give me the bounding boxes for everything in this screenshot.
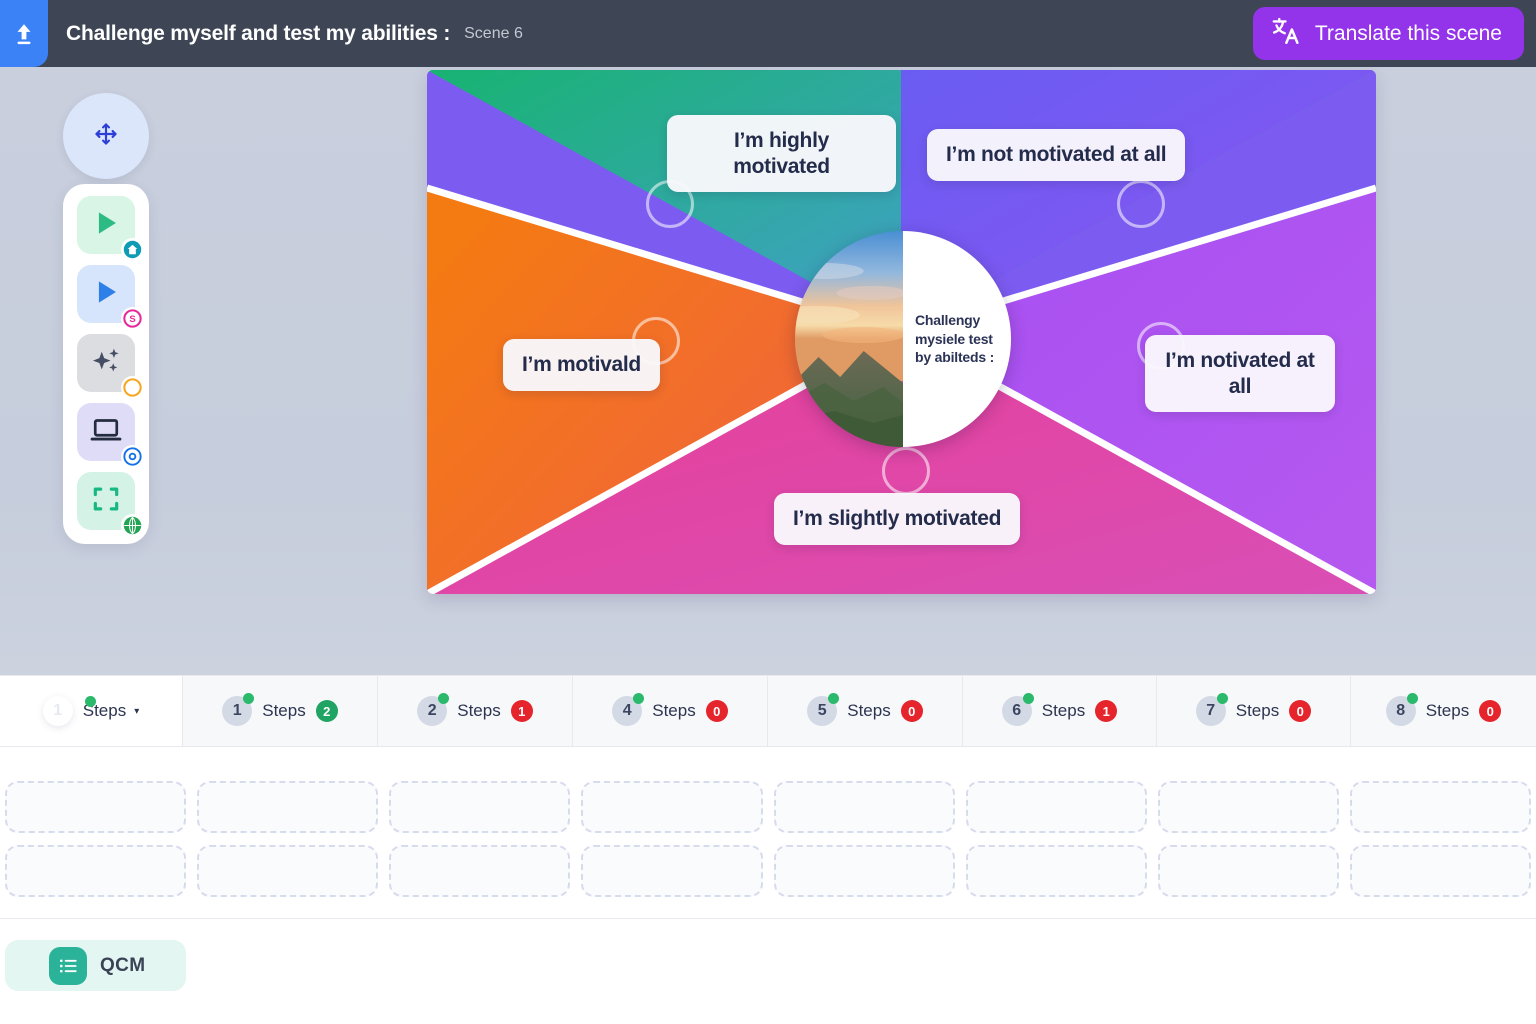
step-tab-1[interactable]: 1 Steps 2: [183, 676, 378, 746]
slot-placeholder[interactable]: [1350, 781, 1531, 833]
center-title: Challengy mysiele test by abilteds :: [915, 311, 1011, 368]
slot-placeholder[interactable]: [5, 781, 186, 833]
eye-icon: [121, 445, 144, 468]
step-label: Steps: [457, 701, 500, 721]
center-image: [795, 231, 903, 447]
status-dot: [1217, 693, 1228, 704]
step-label: Steps: [1426, 701, 1469, 721]
tag-top-right[interactable]: I’m not motivated at all: [927, 129, 1185, 181]
step-number: 5: [807, 696, 837, 726]
money-icon: S: [121, 307, 144, 330]
slot-row: [0, 781, 1536, 833]
slot-row: [0, 845, 1536, 897]
quadrant-diagram[interactable]: I’m highly motivated I’m not motivated a…: [427, 70, 1376, 594]
status-dot: [828, 693, 839, 704]
step-number: 7: [1196, 696, 1226, 726]
slot-placeholder[interactable]: [1350, 845, 1531, 897]
step-tab-6[interactable]: 6 Steps 1: [963, 676, 1157, 746]
tag-right[interactable]: I’m notivated at all: [1145, 335, 1335, 412]
tool-fullscreen[interactable]: [77, 472, 135, 530]
slot-placeholder[interactable]: [774, 781, 955, 833]
circle-icon: [121, 376, 144, 399]
tool-rail: S: [63, 184, 149, 544]
status-dot: [1407, 693, 1418, 704]
step-badge: 2: [316, 700, 338, 722]
step-badge: 0: [706, 700, 728, 722]
step-number: 4: [612, 696, 642, 726]
globe-icon: [121, 514, 144, 537]
upload-icon: [11, 21, 37, 47]
step-tab-7[interactable]: 7 Steps 0: [1157, 676, 1351, 746]
scene-label: Scene 6: [464, 25, 523, 43]
laptop-icon: [89, 413, 123, 452]
translate-button-label: Translate this scene: [1315, 22, 1502, 46]
slot-placeholder[interactable]: [389, 781, 570, 833]
step-badge: 0: [901, 700, 923, 722]
upload-button[interactable]: [0, 0, 48, 67]
bottom-bar: QCM: [0, 919, 1536, 1024]
home-icon: [121, 238, 144, 261]
top-bar: Challenge myself and test my abilities :…: [0, 0, 1536, 67]
step-tab-current[interactable]: 1 Steps ▾: [0, 676, 183, 746]
translate-scene-button[interactable]: Translate this scene: [1253, 7, 1524, 60]
tool-play-run[interactable]: S: [77, 265, 135, 323]
qcm-label: QCM: [100, 955, 146, 977]
slot-placeholder[interactable]: [5, 845, 186, 897]
slot-placeholder[interactable]: [197, 781, 378, 833]
slot-placeholder[interactable]: [774, 845, 955, 897]
status-dot: [85, 696, 96, 707]
step-label: Steps: [847, 701, 890, 721]
step-tab-5[interactable]: 5 Steps 0: [768, 676, 963, 746]
slot-placeholder[interactable]: [389, 845, 570, 897]
step-number: 6: [1002, 696, 1032, 726]
play-blue-icon: [89, 275, 123, 314]
chevron-down-icon[interactable]: ▾: [134, 706, 139, 717]
step-number: 8: [1386, 696, 1416, 726]
step-badge: 0: [1289, 700, 1311, 722]
steps-bar: 1 Steps ▾ 1 Steps 2 2 Steps 1 4 Steps 0 …: [0, 675, 1536, 747]
slot-placeholder[interactable]: [1158, 781, 1339, 833]
slot-placeholder[interactable]: [197, 845, 378, 897]
center-node[interactable]: Challengy mysiele test by abilteds :: [795, 231, 1011, 447]
canvas-stage: S: [0, 67, 1536, 675]
step-badge: 1: [511, 700, 533, 722]
step-number: 1: [222, 696, 252, 726]
hotspot-top-right[interactable]: [1117, 180, 1165, 228]
step-label: Steps: [1042, 701, 1085, 721]
status-dot: [633, 693, 644, 704]
status-dot: [1023, 693, 1034, 704]
step-label: Steps: [1236, 701, 1279, 721]
tag-top-left[interactable]: I’m highly motivated: [667, 115, 896, 192]
translate-icon: [1271, 16, 1301, 51]
slot-placeholder[interactable]: [1158, 845, 1339, 897]
qcm-button[interactable]: QCM: [5, 940, 186, 991]
step-tab-8[interactable]: 8 Steps 0: [1351, 676, 1536, 746]
step-tab-4[interactable]: 4 Steps 0: [573, 676, 768, 746]
move-icon: [93, 121, 119, 152]
tag-bottom[interactable]: I’m slightly motivated: [774, 493, 1020, 545]
status-dot: [243, 693, 254, 704]
step-number: 2: [417, 696, 447, 726]
step-number: 1: [43, 696, 73, 726]
app-root: Challenge myself and test my abilities :…: [0, 0, 1536, 1024]
step-tab-2[interactable]: 2 Steps 1: [378, 676, 573, 746]
step-label: Steps: [262, 701, 305, 721]
step-badge: 0: [1479, 700, 1501, 722]
sparkles-icon: [89, 344, 123, 383]
page-title: Challenge myself and test my abilities :: [66, 22, 450, 46]
slot-placeholder[interactable]: [966, 845, 1147, 897]
hotspot-bottom[interactable]: [882, 447, 930, 495]
tool-play-preview[interactable]: [77, 196, 135, 254]
slot-grid: [0, 747, 1536, 919]
fullscreen-icon: [90, 483, 122, 520]
step-badge: 1: [1095, 700, 1117, 722]
slot-placeholder[interactable]: [966, 781, 1147, 833]
slot-placeholder[interactable]: [581, 845, 762, 897]
slot-placeholder[interactable]: [581, 781, 762, 833]
move-handle[interactable]: [63, 93, 149, 179]
play-green-icon: [89, 206, 123, 245]
list-icon: [49, 947, 87, 985]
tool-device-preview[interactable]: [77, 403, 135, 461]
tag-left[interactable]: I’m motivald: [503, 339, 660, 391]
status-dot: [438, 693, 449, 704]
svg-text:S: S: [129, 314, 135, 325]
tool-ai-sparkles[interactable]: [77, 334, 135, 392]
step-label: Steps: [652, 701, 695, 721]
